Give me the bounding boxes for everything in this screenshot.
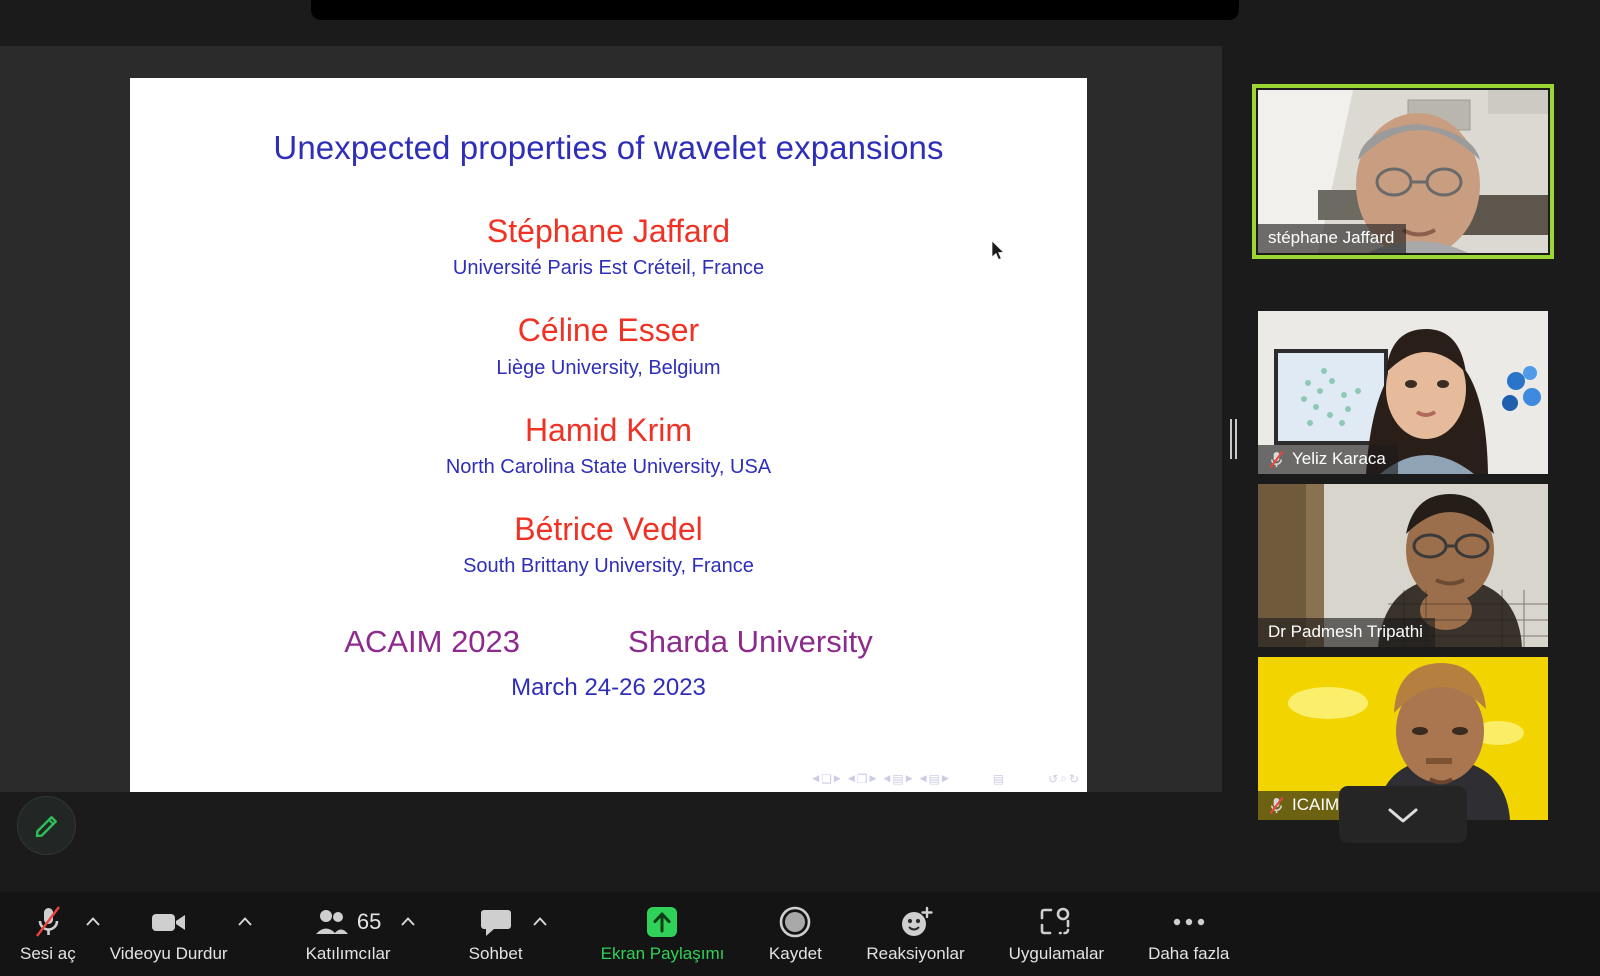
- author-entry: Hamid Krim North Carolina State Universi…: [130, 413, 1087, 478]
- beamer-nav-subsection[interactable]: ◀▤▶: [883, 772, 912, 786]
- author-name: Céline Esser: [130, 313, 1087, 348]
- author-name: Bétrice Vedel: [130, 512, 1087, 547]
- author-name: Hamid Krim: [130, 413, 1087, 448]
- author-entry: Bétrice Vedel South Brittany University,…: [130, 512, 1087, 577]
- author-affiliation: Liège University, Belgium: [130, 357, 1087, 379]
- audio-options-caret[interactable]: [76, 892, 110, 976]
- toolbar-item-audio[interactable]: Sesi aç: [20, 892, 76, 964]
- toolbar-item-record[interactable]: Kaydet: [768, 892, 822, 964]
- toolbar-label-audio: Sesi aç: [20, 944, 76, 964]
- beamer-navigation-bar[interactable]: ◀❑▶ ◀❐▶ ◀▤▶ ◀▤▶ ▤ ↺⌕↻: [812, 771, 1079, 786]
- microphone-muted-icon: [1268, 450, 1285, 469]
- beamer-nav-frame[interactable]: ◀❐▶: [848, 772, 877, 786]
- participant-name-tag: Yeliz Karaca: [1258, 445, 1398, 474]
- sidebar-drag-handle[interactable]: [1228, 418, 1238, 460]
- beamer-nav-slide[interactable]: ◀❑▶: [812, 772, 841, 786]
- chevron-up-icon: [401, 917, 415, 926]
- participant-name-tag: Dr Padmesh Tripathi: [1258, 618, 1435, 647]
- beamer-nav-back-search[interactable]: ↺⌕↻: [1048, 771, 1079, 786]
- share-screen-up-arrow-icon: [644, 902, 680, 942]
- toolbar-item-share-screen[interactable]: Ekran Paylaşımı: [601, 892, 725, 964]
- reactions-smiley-plus-icon: [898, 902, 934, 942]
- camera-icon: [150, 902, 188, 942]
- toolbar-label-apps: Uygulamalar: [1009, 944, 1104, 964]
- author-entry: Céline Esser Liège University, Belgium: [130, 313, 1087, 378]
- slide-title: Unexpected properties of wavelet expansi…: [130, 130, 1087, 166]
- participant-count: 65: [357, 909, 381, 935]
- chat-bubble-icon: [480, 902, 512, 942]
- beamer-nav-toc[interactable]: ▤: [993, 772, 1004, 786]
- participants-options-caret[interactable]: [391, 892, 425, 976]
- participants-filmstrip: stéphane Jaffard: [1240, 46, 1600, 892]
- author-affiliation: South Brittany University, France: [130, 555, 1087, 577]
- filmstrip-scroll-down-button[interactable]: [1339, 786, 1467, 843]
- participants-icon: [315, 908, 349, 936]
- toolbar-item-video[interactable]: Videoyu Durdur: [110, 892, 228, 964]
- annotate-button[interactable]: [17, 796, 76, 855]
- video-options-caret[interactable]: [228, 892, 262, 976]
- participant-tile[interactable]: stéphane Jaffard: [1258, 90, 1548, 253]
- microphone-muted-icon: [33, 902, 63, 942]
- apps-icon: [1039, 902, 1073, 942]
- participant-name: Yeliz Karaca: [1292, 449, 1386, 469]
- toolbar-label-chat: Sohbet: [469, 944, 523, 964]
- chevron-up-icon: [533, 917, 547, 926]
- screen-share-stage: Unexpected properties of wavelet expansi…: [0, 46, 1222, 792]
- shared-slide: Unexpected properties of wavelet expansi…: [130, 78, 1087, 792]
- toolbar-item-reactions[interactable]: Reaksiyonlar: [866, 892, 964, 964]
- toolbar-label-reactions: Reaksiyonlar: [866, 944, 964, 964]
- beamer-nav-section[interactable]: ◀▤▶: [920, 772, 949, 786]
- chevron-up-icon: [86, 917, 100, 926]
- more-dots-icon: [1171, 902, 1207, 942]
- author-name: Stéphane Jaffard: [130, 214, 1087, 249]
- toolbar-item-chat[interactable]: Sohbet: [469, 892, 523, 964]
- participant-name-tag: stéphane Jaffard: [1258, 224, 1406, 253]
- microphone-muted-icon: [1268, 796, 1285, 815]
- toolbar-item-apps[interactable]: Uygulamalar: [1009, 892, 1104, 964]
- zoom-meeting-window: Unexpected properties of wavelet expansi…: [0, 0, 1600, 976]
- toolbar-item-more[interactable]: Daha fazla: [1148, 892, 1229, 964]
- chevron-down-icon: [1386, 805, 1420, 825]
- chevron-up-icon: [238, 917, 252, 926]
- participant-name: stéphane Jaffard: [1268, 228, 1394, 248]
- toolbar-label-share-screen: Ekran Paylaşımı: [601, 944, 725, 964]
- conference-name: ACAIM 2023: [344, 625, 520, 659]
- chat-options-caret[interactable]: [523, 892, 557, 976]
- author-affiliation: Université Paris Est Créteil, France: [130, 257, 1087, 279]
- conference-date: March 24-26 2023: [130, 675, 1087, 701]
- author-entry: Stéphane Jaffard Université Paris Est Cr…: [130, 214, 1087, 279]
- toolbar-label-record: Kaydet: [769, 944, 822, 964]
- conference-venue: Sharda University: [628, 625, 873, 659]
- record-circle-icon: [778, 902, 812, 942]
- toolbar-label-more: Daha fazla: [1148, 944, 1229, 964]
- collapsed-top-bar[interactable]: [311, 0, 1239, 20]
- meeting-toolbar: Sesi aç Videoyu Durdur: [0, 892, 1600, 976]
- conference-row: ACAIM 2023 Sharda University: [130, 625, 1087, 659]
- toolbar-label-participants: Katılımcılar: [306, 944, 391, 964]
- toolbar-label-video: Videoyu Durdur: [110, 944, 228, 964]
- participant-name: Dr Padmesh Tripathi: [1268, 622, 1423, 642]
- pencil-icon: [32, 811, 62, 841]
- participant-tile[interactable]: Yeliz Karaca: [1258, 311, 1548, 474]
- toolbar-item-participants[interactable]: 65 Katılımcılar: [306, 892, 391, 964]
- participant-tile[interactable]: Dr Padmesh Tripathi: [1258, 484, 1548, 647]
- author-affiliation: North Carolina State University, USA: [130, 456, 1087, 478]
